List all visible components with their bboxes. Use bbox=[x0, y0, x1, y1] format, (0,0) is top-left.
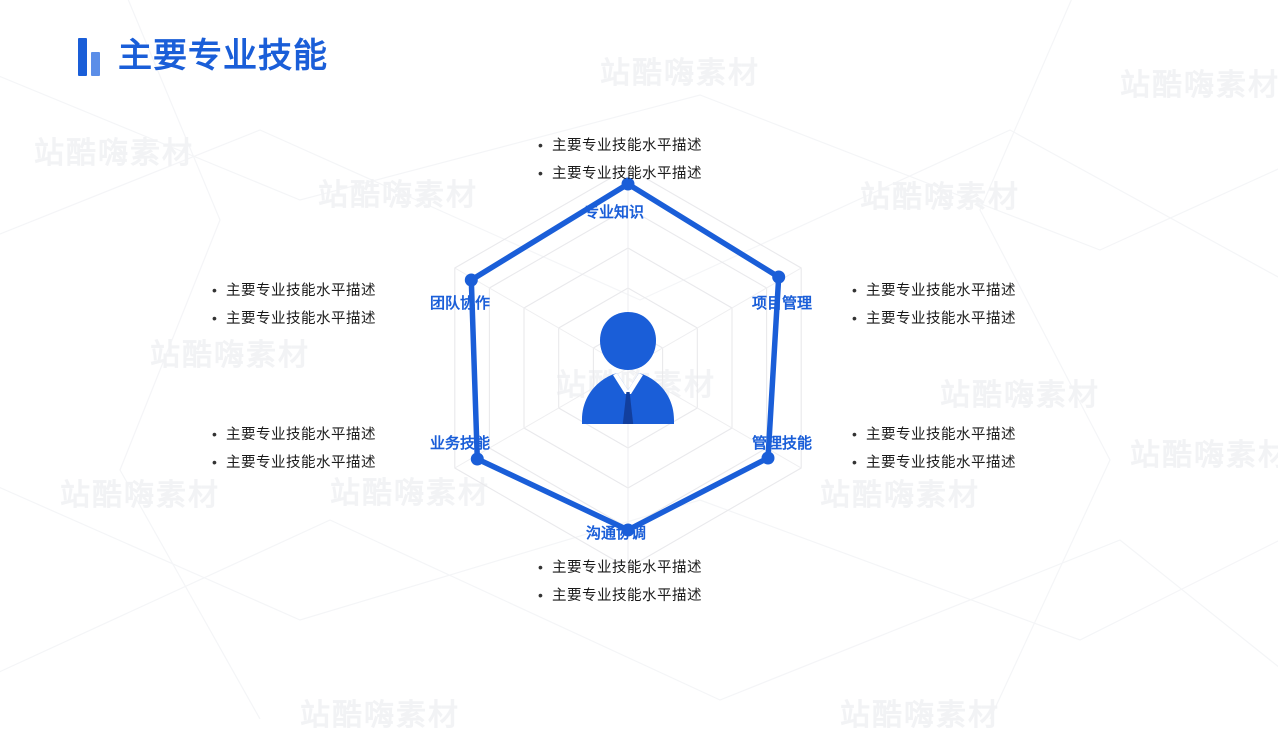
list-item-label: 主要专业技能水平描述 bbox=[866, 284, 1016, 299]
axis-label-top: 专业知识 bbox=[584, 205, 644, 220]
bullet-glyph: • bbox=[212, 427, 226, 441]
callout-upper-right: • 主要专业技能水平描述 • 主要专业技能水平描述 bbox=[852, 283, 1016, 326]
watermark-text: 站酷嗨素材 bbox=[600, 48, 760, 92]
bullet-glyph: • bbox=[852, 311, 866, 325]
list-item-label: 主要专业技能水平描述 bbox=[226, 428, 376, 443]
list-item-label: 主要专业技能水平描述 bbox=[226, 456, 376, 471]
list-item: • 主要专业技能水平描述 bbox=[852, 455, 1016, 471]
radar-point-业务技能 bbox=[471, 453, 484, 466]
watermark-text: 站酷嗨素材 bbox=[940, 370, 1100, 414]
bullet-glyph: • bbox=[538, 138, 552, 152]
axis-label-lower-left: 业务技能 bbox=[430, 436, 490, 451]
watermark-text: 站酷嗨素材 bbox=[840, 690, 1000, 734]
axis-label-lower-right: 管理技能 bbox=[752, 436, 812, 451]
page-title: 主要专业技能 bbox=[118, 39, 328, 73]
axis-label-upper-right: 项目管理 bbox=[752, 296, 812, 311]
list-item: • 主要专业技能水平描述 bbox=[538, 166, 702, 182]
list-item: • 主要专业技能水平描述 bbox=[212, 427, 376, 443]
radar-point-管理技能 bbox=[762, 452, 775, 465]
watermark-text: 站酷嗨素材 bbox=[60, 470, 220, 514]
list-item: • 主要专业技能水平描述 bbox=[212, 311, 376, 327]
bullet-glyph: • bbox=[538, 560, 552, 574]
watermark-text: 站酷嗨素材 bbox=[150, 330, 310, 374]
callout-top: • 主要专业技能水平描述 • 主要专业技能水平描述 bbox=[538, 138, 702, 181]
bullet-glyph: • bbox=[852, 455, 866, 469]
list-item-label: 主要专业技能水平描述 bbox=[552, 167, 702, 182]
watermark-text: 站酷嗨素材 bbox=[1120, 60, 1278, 104]
list-item-label: 主要专业技能水平描述 bbox=[866, 312, 1016, 327]
radar-point-团队协作 bbox=[465, 274, 478, 287]
callout-lower-left: • 主要专业技能水平描述 • 主要专业技能水平描述 bbox=[212, 427, 376, 470]
watermark-text: 站酷嗨素材 bbox=[820, 470, 980, 514]
list-item: • 主要专业技能水平描述 bbox=[852, 311, 1016, 327]
callout-bottom: • 主要专业技能水平描述 • 主要专业技能水平描述 bbox=[538, 560, 702, 603]
axis-label-bottom: 沟通协调 bbox=[586, 526, 646, 541]
list-item: • 主要专业技能水平描述 bbox=[538, 138, 702, 154]
list-item: • 主要专业技能水平描述 bbox=[538, 560, 702, 576]
callout-lower-right: • 主要专业技能水平描述 • 主要专业技能水平描述 bbox=[852, 427, 1016, 470]
bullet-glyph: • bbox=[852, 283, 866, 297]
businessman-avatar-icon bbox=[582, 312, 674, 424]
page-header: 主要专业技能 bbox=[78, 36, 328, 76]
list-item-label: 主要专业技能水平描述 bbox=[552, 139, 702, 154]
list-item-label: 主要专业技能水平描述 bbox=[552, 589, 702, 604]
watermark-text: 站酷嗨素材 bbox=[860, 172, 1020, 216]
axis-label-upper-left: 团队协作 bbox=[430, 296, 490, 311]
list-item-label: 主要专业技能水平描述 bbox=[226, 312, 376, 327]
radar-chart-svg bbox=[428, 168, 828, 568]
list-item: • 主要专业技能水平描述 bbox=[852, 283, 1016, 299]
list-item-label: 主要专业技能水平描述 bbox=[552, 561, 702, 576]
radar-point-项目管理 bbox=[772, 271, 785, 284]
bullet-glyph: • bbox=[212, 283, 226, 297]
bullet-glyph: • bbox=[538, 166, 552, 180]
bullet-glyph: • bbox=[212, 311, 226, 325]
list-item: • 主要专业技能水平描述 bbox=[212, 455, 376, 471]
bullet-glyph: • bbox=[538, 588, 552, 602]
list-item-label: 主要专业技能水平描述 bbox=[226, 284, 376, 299]
watermark-text: 站酷嗨素材 bbox=[34, 128, 194, 172]
list-item: • 主要专业技能水平描述 bbox=[852, 427, 1016, 443]
bullet-glyph: • bbox=[852, 427, 866, 441]
list-item: • 主要专业技能水平描述 bbox=[212, 283, 376, 299]
watermark-text: 站酷嗨素材 bbox=[300, 690, 460, 734]
radar-chart bbox=[428, 168, 828, 568]
list-item: • 主要专业技能水平描述 bbox=[538, 588, 702, 604]
watermark-text: 站酷嗨素材 bbox=[1130, 430, 1278, 474]
list-item-label: 主要专业技能水平描述 bbox=[866, 456, 1016, 471]
callout-upper-left: • 主要专业技能水平描述 • 主要专业技能水平描述 bbox=[212, 283, 376, 326]
bullet-glyph: • bbox=[212, 455, 226, 469]
list-item-label: 主要专业技能水平描述 bbox=[866, 428, 1016, 443]
bar-chart-icon bbox=[78, 36, 100, 76]
